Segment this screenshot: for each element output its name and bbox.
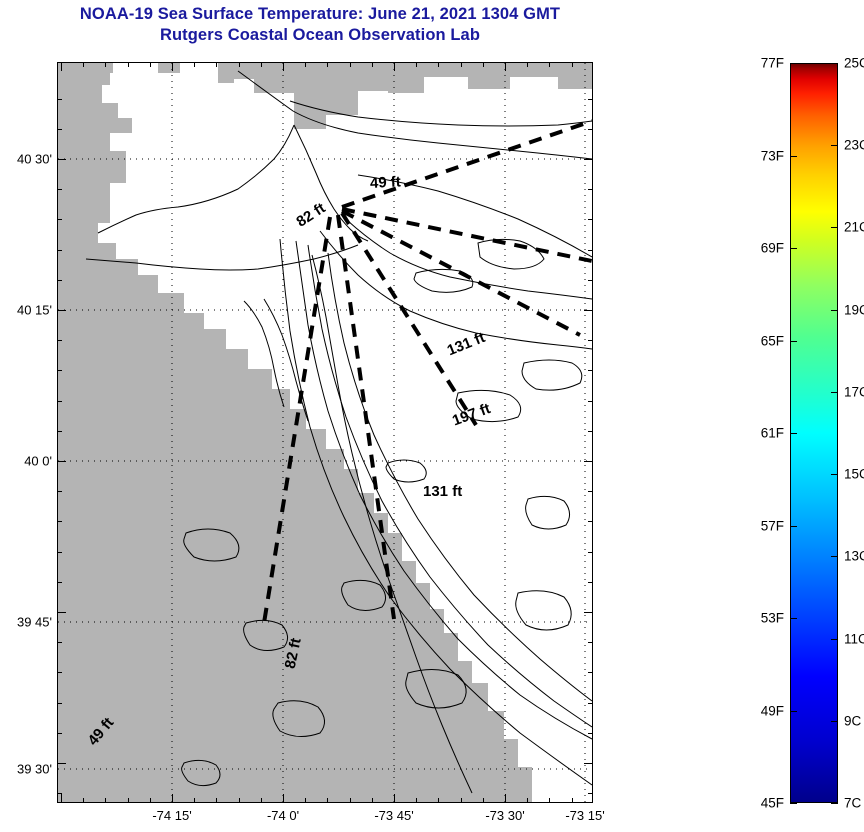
colorbar-label-9C: 9C [844, 713, 861, 728]
colorbar-label-65F: 65F [761, 333, 784, 348]
colorbar-label-23C: 23C [844, 138, 864, 153]
x-tick-minor [261, 798, 262, 803]
colorbar-tick-c-19C [831, 310, 838, 311]
land-mask-fragment-2 [58, 753, 88, 775]
x-tick-minor [128, 798, 129, 803]
land-mask-fragment-1 [64, 711, 90, 729]
x-tick-minor [483, 798, 484, 803]
x-tick-minor-top [416, 62, 417, 67]
colorbar-label-57F: 57F [761, 518, 784, 533]
colorbar-tick-f-49F [790, 711, 797, 712]
y-tick-minor [57, 703, 62, 704]
x-tick-major [394, 794, 395, 803]
x-tick-minor [572, 798, 573, 803]
colorbar-tick-c-15C [831, 474, 838, 475]
x-tick-minor [150, 798, 151, 803]
x-tick-minor-top [305, 62, 306, 67]
y-tick-minor-right [588, 582, 593, 583]
contour-82ft-b [320, 231, 592, 349]
y-tick-minor [57, 370, 62, 371]
y-tick-major-right [584, 159, 593, 160]
colorbar-tick-c-13C [831, 556, 838, 557]
colorbar-group: 77F73F69F65F61F57F53F49F45F25C23C21C19C1… [790, 63, 838, 803]
y-axis-label-3: 39 45' [17, 615, 52, 630]
title-line-2: Rutgers Coastal Ocean Observation Lab [0, 25, 640, 46]
x-tick-minor-top [438, 62, 439, 67]
x-tick-minor [527, 798, 528, 803]
x-tick-minor [461, 798, 462, 803]
y-tick-major [57, 461, 66, 462]
y-tick-minor-right [588, 370, 593, 371]
colorbar-label-11C: 11C [844, 631, 864, 646]
colorbar-label-19C: 19C [844, 302, 864, 317]
x-tick-minor-top [216, 62, 217, 67]
x-tick-minor-top [83, 62, 84, 67]
y-tick-minor-right [588, 703, 593, 704]
y-tick-major [57, 310, 66, 311]
y-tick-minor [57, 521, 62, 522]
y-tick-major-right [584, 763, 593, 764]
contour-patch-9 [516, 591, 571, 630]
page-title: NOAA-19 Sea Surface Temperature: June 21… [0, 4, 640, 46]
y-tick-minor-right [588, 99, 593, 100]
x-tick-minor-top [549, 62, 550, 67]
y-tick-major [57, 612, 66, 613]
colorbar-label-49F: 49F [761, 703, 784, 718]
y-axis-label-2: 40 0' [24, 454, 52, 469]
y-axis-label-4: 39 30' [17, 762, 52, 777]
x-tick-minor-top [105, 62, 106, 67]
colorbar-tick-f-45F [790, 803, 797, 804]
x-tick-minor [83, 798, 84, 803]
colorbar-label-25C: 25C [844, 56, 864, 71]
colorbar-tick-f-77F [790, 63, 797, 64]
y-tick-minor [57, 129, 62, 130]
depth-label-131ft-south: 131 ft [423, 483, 462, 500]
y-tick-minor [57, 672, 62, 673]
x-tick-minor [194, 798, 195, 803]
colorbar-label-69F: 69F [761, 241, 784, 256]
y-tick-major-right [584, 310, 593, 311]
x-tick-minor-top [128, 62, 129, 67]
x-tick-minor [239, 798, 240, 803]
colorbar-tick-f-61F [790, 433, 797, 434]
x-tick-major-top [505, 62, 506, 71]
contour-patch-3 [522, 360, 582, 390]
x-tick-minor-top [483, 62, 484, 67]
transect-line-ne2 [342, 209, 592, 261]
colorbar-label-17C: 17C [844, 384, 864, 399]
x-axis-label-0: -74 15' [152, 808, 191, 823]
y-tick-minor [57, 99, 62, 100]
x-tick-minor-top [194, 62, 195, 67]
x-tick-major-top [61, 62, 62, 71]
y-tick-major-right [584, 461, 593, 462]
x-axis-label-2: -73 45' [374, 808, 413, 823]
x-tick-major [283, 794, 284, 803]
y-axis-label-0: 40 30' [17, 152, 52, 167]
y-tick-minor [57, 642, 62, 643]
colorbar-tick-c-25C [831, 63, 838, 64]
y-tick-minor [57, 793, 62, 794]
y-tick-major [57, 763, 66, 764]
x-axis-label-3: -73 30' [485, 808, 524, 823]
colorbar-tick-f-73F [790, 156, 797, 157]
colorbar-tick-c-7C [831, 803, 838, 804]
x-tick-minor-top [350, 62, 351, 67]
colorbar-label-21C: 21C [844, 220, 864, 235]
colorbar-tick-f-69F [790, 248, 797, 249]
colorbar-tick-c-11C [831, 639, 838, 640]
land-mask-fragment-4 [182, 673, 198, 689]
land-mask-layer [58, 63, 592, 802]
y-tick-minor [57, 431, 62, 432]
y-tick-minor [57, 582, 62, 583]
y-tick-minor-right [588, 733, 593, 734]
y-tick-minor [57, 491, 62, 492]
x-tick-major-top [283, 62, 284, 71]
y-tick-minor-right [588, 189, 593, 190]
colorbar-gradient [790, 63, 838, 803]
y-tick-minor-right [588, 491, 593, 492]
land-mask-fragment-5 [166, 693, 180, 707]
x-tick-minor [438, 798, 439, 803]
x-tick-minor-top [461, 62, 462, 67]
x-tick-major-top [394, 62, 395, 71]
y-tick-minor-right [588, 521, 593, 522]
y-axis-label-1: 40 15' [17, 303, 52, 318]
x-tick-major [172, 794, 173, 803]
colorbar-tick-f-57F [790, 526, 797, 527]
map-plot-area: 49 ft 82 ft 131 ft 197 ft 131 ft 82 ft 4… [57, 62, 593, 803]
x-axis-label-1: -74 0' [267, 808, 299, 823]
x-tick-minor-top [239, 62, 240, 67]
y-tick-minor [57, 280, 62, 281]
colorbar-tick-f-53F [790, 618, 797, 619]
colorbar-label-61F: 61F [761, 426, 784, 441]
y-tick-minor [57, 219, 62, 220]
x-tick-minor [105, 798, 106, 803]
colorbar-label-45F: 45F [761, 796, 784, 811]
colorbar-label-73F: 73F [761, 148, 784, 163]
y-tick-minor [57, 552, 62, 553]
colorbar-tick-c-21C [831, 227, 838, 228]
transect-line-ne1 [342, 121, 592, 207]
contour-patch-6 [526, 496, 570, 529]
y-tick-minor [57, 340, 62, 341]
colorbar-label-7C: 7C [844, 796, 861, 811]
y-tick-minor-right [588, 672, 593, 673]
x-tick-minor [416, 798, 417, 803]
y-tick-minor [57, 401, 62, 402]
x-tick-minor [350, 798, 351, 803]
x-tick-minor [327, 798, 328, 803]
x-tick-major [61, 794, 62, 803]
colorbar-label-77F: 77F [761, 56, 784, 71]
y-tick-minor [57, 250, 62, 251]
x-tick-minor-top [327, 62, 328, 67]
y-tick-minor [57, 189, 62, 190]
map-graphics [58, 63, 592, 802]
contour-patch-5 [386, 460, 426, 482]
coast-raritan [98, 125, 294, 233]
x-tick-minor [305, 798, 306, 803]
depth-label-49ft-north: 49 ft [370, 173, 402, 192]
x-tick-minor-top [261, 62, 262, 67]
contour-patch-1 [478, 239, 544, 269]
y-tick-minor [57, 733, 62, 734]
x-tick-minor [372, 798, 373, 803]
x-tick-major-top [172, 62, 173, 71]
y-tick-minor-right [588, 793, 593, 794]
y-tick-major [57, 159, 66, 160]
x-tick-minor [549, 798, 550, 803]
colorbar-tick-c-9C [831, 721, 838, 722]
y-tick-minor-right [588, 280, 593, 281]
colorbar-label-15C: 15C [844, 467, 864, 482]
x-tick-major [505, 794, 506, 803]
x-tick-minor-top [527, 62, 528, 67]
x-tick-minor-top [572, 62, 573, 67]
y-tick-minor-right [588, 340, 593, 341]
x-axis-label-4: -73 15' [565, 808, 604, 823]
y-tick-minor-right [588, 552, 593, 553]
land-mask-fragment-3 [72, 779, 106, 802]
y-tick-minor-right [588, 431, 593, 432]
colorbar-label-13C: 13C [844, 549, 864, 564]
y-tick-minor-right [588, 401, 593, 402]
x-tick-minor-top [372, 62, 373, 67]
x-tick-minor [216, 798, 217, 803]
title-line-1: NOAA-19 Sea Surface Temperature: June 21… [0, 4, 640, 25]
sst-map-page: NOAA-19 Sea Surface Temperature: June 21… [0, 0, 864, 832]
y-tick-minor-right [588, 250, 593, 251]
y-tick-minor-right [588, 642, 593, 643]
colorbar-tick-f-65F [790, 341, 797, 342]
colorbar-tick-c-17C [831, 392, 838, 393]
colorbar-tick-c-23C [831, 145, 838, 146]
y-tick-minor-right [588, 219, 593, 220]
x-tick-minor-top [150, 62, 151, 67]
y-tick-major-right [584, 612, 593, 613]
map-clip [58, 63, 592, 802]
colorbar-label-53F: 53F [761, 611, 784, 626]
y-tick-minor-right [588, 129, 593, 130]
